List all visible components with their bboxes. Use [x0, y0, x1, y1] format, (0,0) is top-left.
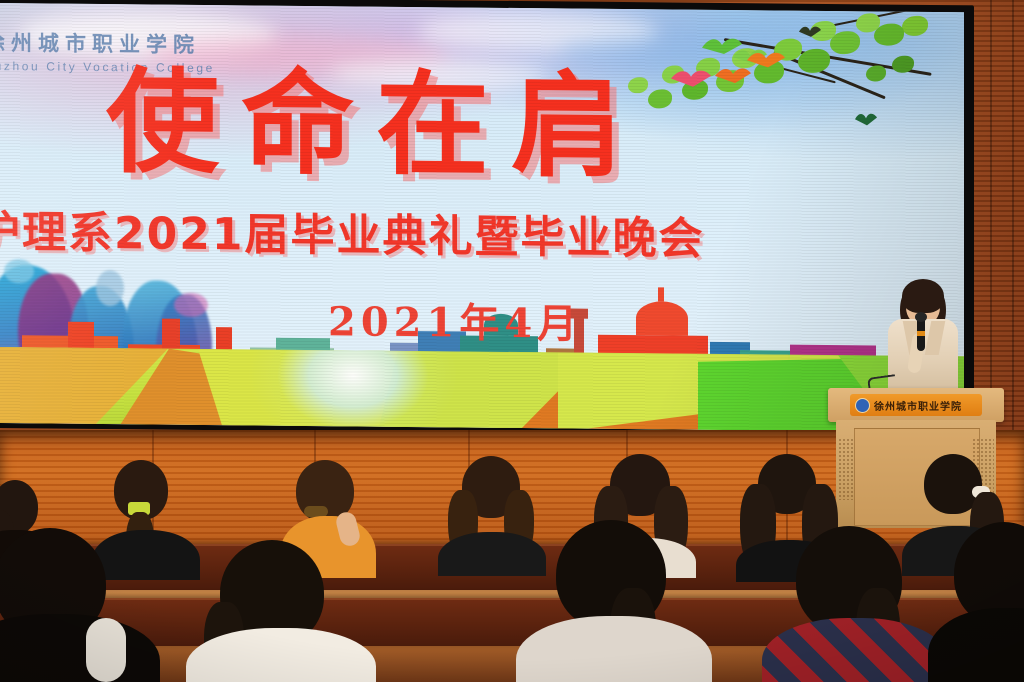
sun-glow	[248, 347, 458, 432]
ground-band	[0, 347, 964, 432]
bird-icon	[746, 46, 786, 75]
college-emblem-icon	[855, 398, 870, 413]
podium-plaque: 徐州城市职业学院	[850, 394, 982, 416]
audience-person	[524, 516, 700, 682]
speaker-figure	[884, 281, 962, 393]
audience-person	[944, 512, 1024, 682]
event-date: 2021年4月	[328, 302, 582, 344]
led-backdrop-screen: 徐州城市职业学院 Xuzhou City Vocation College 使命…	[0, 0, 974, 437]
bird-icon	[670, 63, 712, 94]
audience-person	[768, 520, 936, 682]
photo-scene: 徐州城市职业学院 Xuzhou City Vocation College 使命…	[0, 0, 1024, 682]
audience-person	[196, 532, 362, 682]
bird-icon	[854, 109, 878, 132]
podium-plaque-text: 徐州城市职业学院	[874, 398, 962, 413]
bird-icon	[798, 23, 822, 44]
screen-content: 徐州城市职业学院 Xuzhou City Vocation College 使命…	[0, 3, 964, 432]
logo-name-cn: 徐州城市职业学院	[0, 27, 215, 59]
event-subtitle: 护理系2021届毕业典礼暨毕业晚会	[0, 211, 704, 262]
audience-person	[0, 522, 146, 682]
audience-area	[0, 422, 1024, 682]
bird-icon	[714, 62, 752, 91]
event-headline: 使命在肩	[106, 66, 646, 184]
